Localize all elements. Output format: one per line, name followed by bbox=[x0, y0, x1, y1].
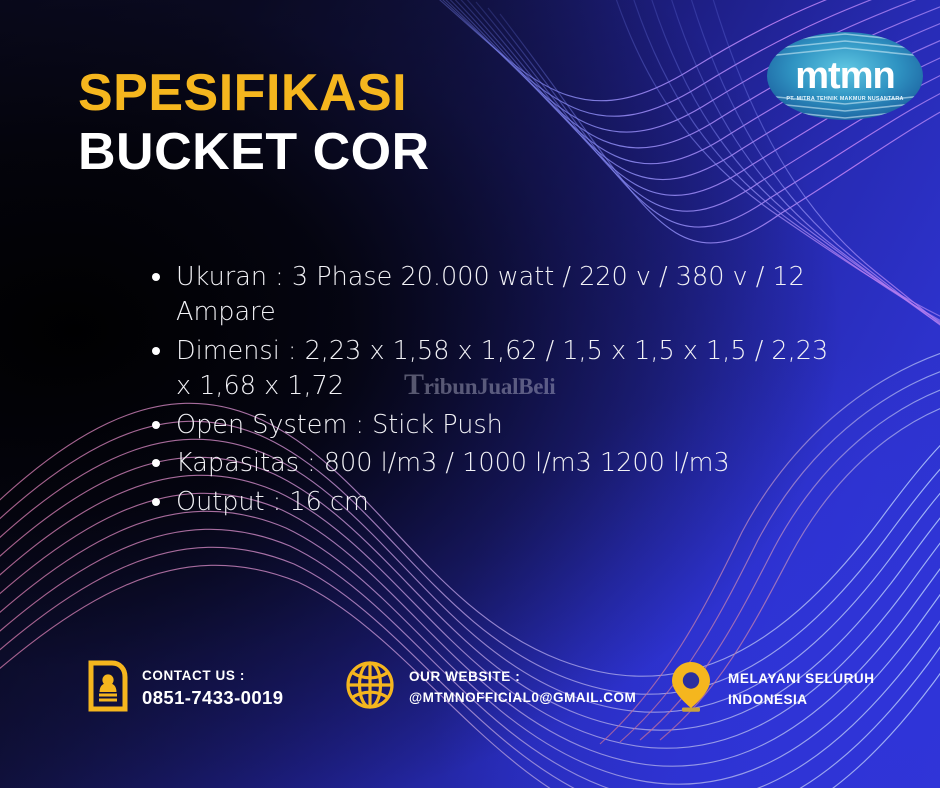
title-line-secondary: BUCKET COR bbox=[78, 125, 430, 180]
bullet-dot-icon bbox=[152, 421, 160, 429]
footer-website-block: OUR WEBSITE : @MTMNOFFICIAL0@GMAIL.COM bbox=[345, 660, 636, 715]
footer-bar: CONTACT US : 0851-7433-0019 bbox=[0, 660, 940, 746]
title-line-primary: SPESIFIKASI bbox=[78, 66, 430, 121]
globe-icon bbox=[345, 660, 395, 715]
bullet-dot-icon bbox=[152, 347, 160, 355]
watermark-initial: T bbox=[404, 368, 424, 401]
watermark-text: ribunJualBeli bbox=[424, 374, 556, 399]
location-label: MELAYANI SELURUH bbox=[728, 669, 875, 689]
map-pin-icon bbox=[668, 660, 714, 719]
logo-tagline: PT. MITRA TEHNIK MAKMUR NUSANTARA bbox=[786, 96, 903, 102]
spec-text: Open System : Stick Push bbox=[176, 408, 842, 443]
brand-logo: mtmn PT. MITRA TEHNIK MAKMUR NUSANTARA bbox=[765, 26, 925, 126]
website-value[interactable]: @MTMNOFFICIAL0@GMAIL.COM bbox=[409, 688, 636, 708]
location-text: MELAYANI SELURUH INDONESIA bbox=[728, 669, 875, 710]
website-text: OUR WEBSITE : @MTMNOFFICIAL0@GMAIL.COM bbox=[409, 667, 636, 708]
contact-label: CONTACT US : bbox=[142, 666, 283, 686]
bullet-dot-icon bbox=[152, 273, 160, 281]
bullet-dot-icon bbox=[152, 459, 160, 467]
website-label: OUR WEBSITE : bbox=[409, 667, 636, 687]
contact-text: CONTACT US : 0851-7433-0019 bbox=[142, 666, 283, 711]
footer-location-block: MELAYANI SELURUH INDONESIA bbox=[668, 660, 875, 719]
bullet-dot-icon bbox=[152, 498, 160, 506]
spec-text: Output : 16 cm bbox=[176, 485, 842, 520]
poster-canvas: SPESIFIKASI BUCKET COR mtm bbox=[0, 0, 940, 788]
spec-text: Kapasitas : 800 l/m3 / 1000 l/m3 1200 l/… bbox=[176, 446, 842, 481]
footer-contact-block: CONTACT US : 0851-7433-0019 bbox=[88, 660, 283, 717]
page-title: SPESIFIKASI BUCKET COR bbox=[78, 66, 430, 180]
list-item: Open System : Stick Push bbox=[152, 408, 842, 443]
watermark: TribunJualBeli bbox=[404, 374, 555, 400]
list-item: Kapasitas : 800 l/m3 / 1000 l/m3 1200 l/… bbox=[152, 446, 842, 481]
list-item: Ukuran : 3 Phase 20.000 watt / 220 v / 3… bbox=[152, 260, 842, 331]
contact-phone[interactable]: 0851-7433-0019 bbox=[142, 686, 283, 711]
logo-wordmark: mtmn bbox=[795, 55, 894, 97]
contact-card-icon bbox=[88, 660, 128, 717]
location-value: INDONESIA bbox=[728, 690, 875, 710]
spec-text: Ukuran : 3 Phase 20.000 watt / 220 v / 3… bbox=[176, 260, 842, 331]
list-item: Output : 16 cm bbox=[152, 485, 842, 520]
